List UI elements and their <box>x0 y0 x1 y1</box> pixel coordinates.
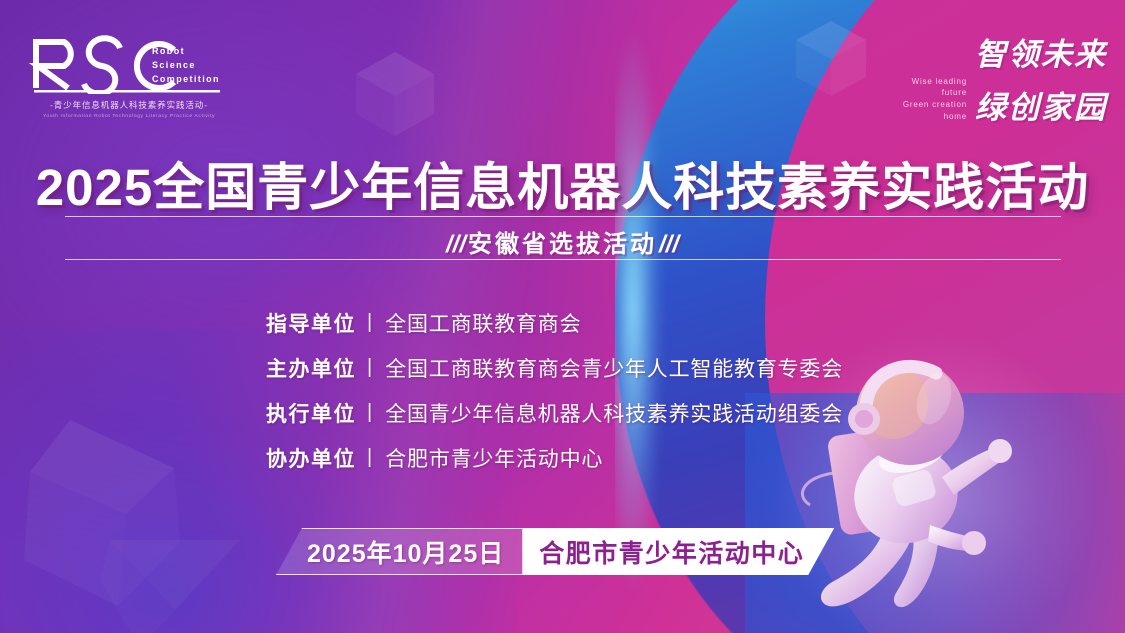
event-venue: 合肥市青少年活动中心 <box>522 528 834 575</box>
org-separator: | <box>367 401 372 424</box>
logo-english-tagline: Youth Information Robot Technology Liter… <box>24 113 234 119</box>
slogan-en-line-1: Wise leading <box>903 76 967 88</box>
org-separator: | <box>367 356 372 379</box>
organization-row: 主办单位 | 全国工商联教育商会青少年人工智能教育专委会 <box>266 345 843 390</box>
main-title: 2025全国青少年信息机器人科技素养实践活动 <box>0 146 1125 220</box>
slogan-en-line-2: future <box>903 87 967 99</box>
subtitle-slash-right: /// <box>657 231 681 258</box>
org-label: 协办单位 <box>266 443 356 473</box>
org-separator: | <box>367 311 372 334</box>
logo-chinese-tagline: -青少年信息机器人科技素养实践活动- <box>24 99 234 111</box>
org-value: 合肥市青少年活动中心 <box>385 443 603 473</box>
org-label: 执行单位 <box>266 398 356 428</box>
organization-row: 协办单位 | 合肥市青少年活动中心 <box>266 435 843 480</box>
subtitle: ///安徽省选拔活动/// <box>0 224 1125 259</box>
org-label: 主办单位 <box>266 353 356 383</box>
cube-top-right-icon <box>793 18 869 100</box>
subtitle-text: 安徽省选拔活动 <box>468 231 657 258</box>
event-date: 2025年10月25日 <box>276 528 522 575</box>
poster-canvas: Robot Science Competition -青少年信息机器人科技素养实… <box>0 0 1125 633</box>
rsc-logo-mark-icon: Robot Science Competition <box>24 32 234 94</box>
organization-list: 指导单位 | 全国工商联教育商会 主办单位 | 全国工商联教育商会青少年人工智能… <box>266 300 843 480</box>
org-value: 全国工商联教育商会 <box>385 308 581 338</box>
title-rule-top <box>65 216 1061 217</box>
logo-line-1: Robot <box>152 46 185 56</box>
org-value: 全国青少年信息机器人科技素养实践活动组委会 <box>385 398 843 428</box>
logo-line-3: Competition <box>152 74 220 84</box>
org-value: 全国工商联教育商会青少年人工智能教育专委会 <box>385 353 843 383</box>
slogan-block: 智领未来 Wise leading future Green creation … <box>903 36 1107 127</box>
organization-row: 指导单位 | 全国工商联教育商会 <box>266 300 843 345</box>
organization-row: 执行单位 | 全国青少年信息机器人科技素养实践活动组委会 <box>266 390 843 435</box>
title-rule-bottom <box>65 259 1061 260</box>
logo-line-2: Science <box>152 60 196 70</box>
subtitle-slash-left: /// <box>444 231 468 258</box>
slogan-en-line-3: Green creation <box>903 99 967 111</box>
cube-bottom-left-icon <box>100 540 250 633</box>
org-label: 指导单位 <box>266 308 356 338</box>
event-info-bar: 2025年10月25日 合肥市青少年活动中心 <box>276 528 834 575</box>
org-separator: | <box>367 446 372 469</box>
slogan-cn-line-2: 绿创家园 <box>975 89 1107 127</box>
cube-top-center-icon <box>352 48 438 140</box>
rsc-logo: Robot Science Competition -青少年信息机器人科技素养实… <box>24 32 234 119</box>
slogan-en-line-4: home <box>903 111 967 123</box>
slogan-en-block: Wise leading future Green creation home <box>903 76 967 127</box>
slogan-cn-line-1: 智领未来 <box>975 36 1107 74</box>
